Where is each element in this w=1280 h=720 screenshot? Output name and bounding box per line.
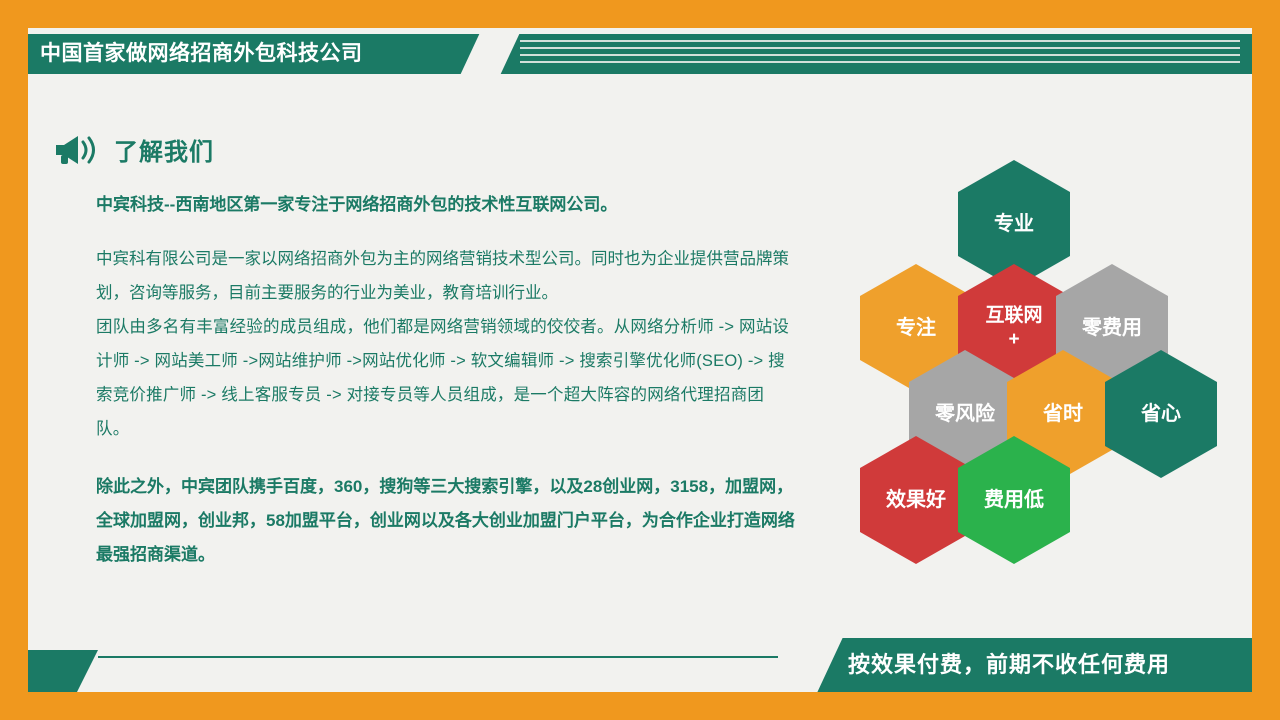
- hex-label: 效果好: [886, 488, 946, 512]
- section-header: 了解我们: [52, 132, 214, 167]
- hex-label: 专注: [896, 316, 936, 340]
- megaphone-icon: [52, 133, 96, 167]
- hex-label: 互联网+: [985, 304, 1042, 352]
- header-line-decoration: [520, 40, 1240, 68]
- hex-label: 省心: [1141, 402, 1181, 426]
- hex-label: 费用低: [984, 488, 1044, 512]
- hex-label: 专业: [994, 212, 1034, 236]
- paragraph-1: 中宾科有限公司是一家以网络招商外包为主的网络营销技术型公司。同时也为企业提供营品…: [96, 242, 796, 310]
- hex-label: 零费用: [1082, 316, 1142, 340]
- hex-label: 省时: [1043, 402, 1083, 426]
- footer-left-decoration: [28, 650, 788, 692]
- hex-label: 零风险: [935, 402, 995, 426]
- page-title: 中国首家做网络招商外包科技公司: [40, 36, 363, 72]
- footer-text: 按效果付费，前期不收任何费用: [848, 638, 1170, 692]
- lead-paragraph: 中宾科技--西南地区第一家专注于网络招商外包的技术性互联网公司。: [96, 190, 796, 220]
- hexagon-cluster: 专业 专注 互联网+ 零费用 零风险 省时 省心 效果好 费用低: [820, 160, 1220, 560]
- section-title: 了解我们: [114, 132, 214, 167]
- closing-paragraph: 除此之外，中宾团队携手百度，360，搜狗等三大搜索引擎，以及28创业网，3158…: [96, 470, 796, 572]
- body-text-column: 中宾科技--西南地区第一家专注于网络招商外包的技术性互联网公司。 中宾科有限公司…: [96, 190, 796, 572]
- paragraph-2: 团队由多名有丰富经验的成员组成，他们都是网络营销领域的佼佼者。从网络分析师 ->…: [96, 310, 796, 446]
- slide: 中国首家做网络招商外包科技公司 了解我们 中宾科技--西南地区第一家专注于网络招…: [0, 0, 1280, 720]
